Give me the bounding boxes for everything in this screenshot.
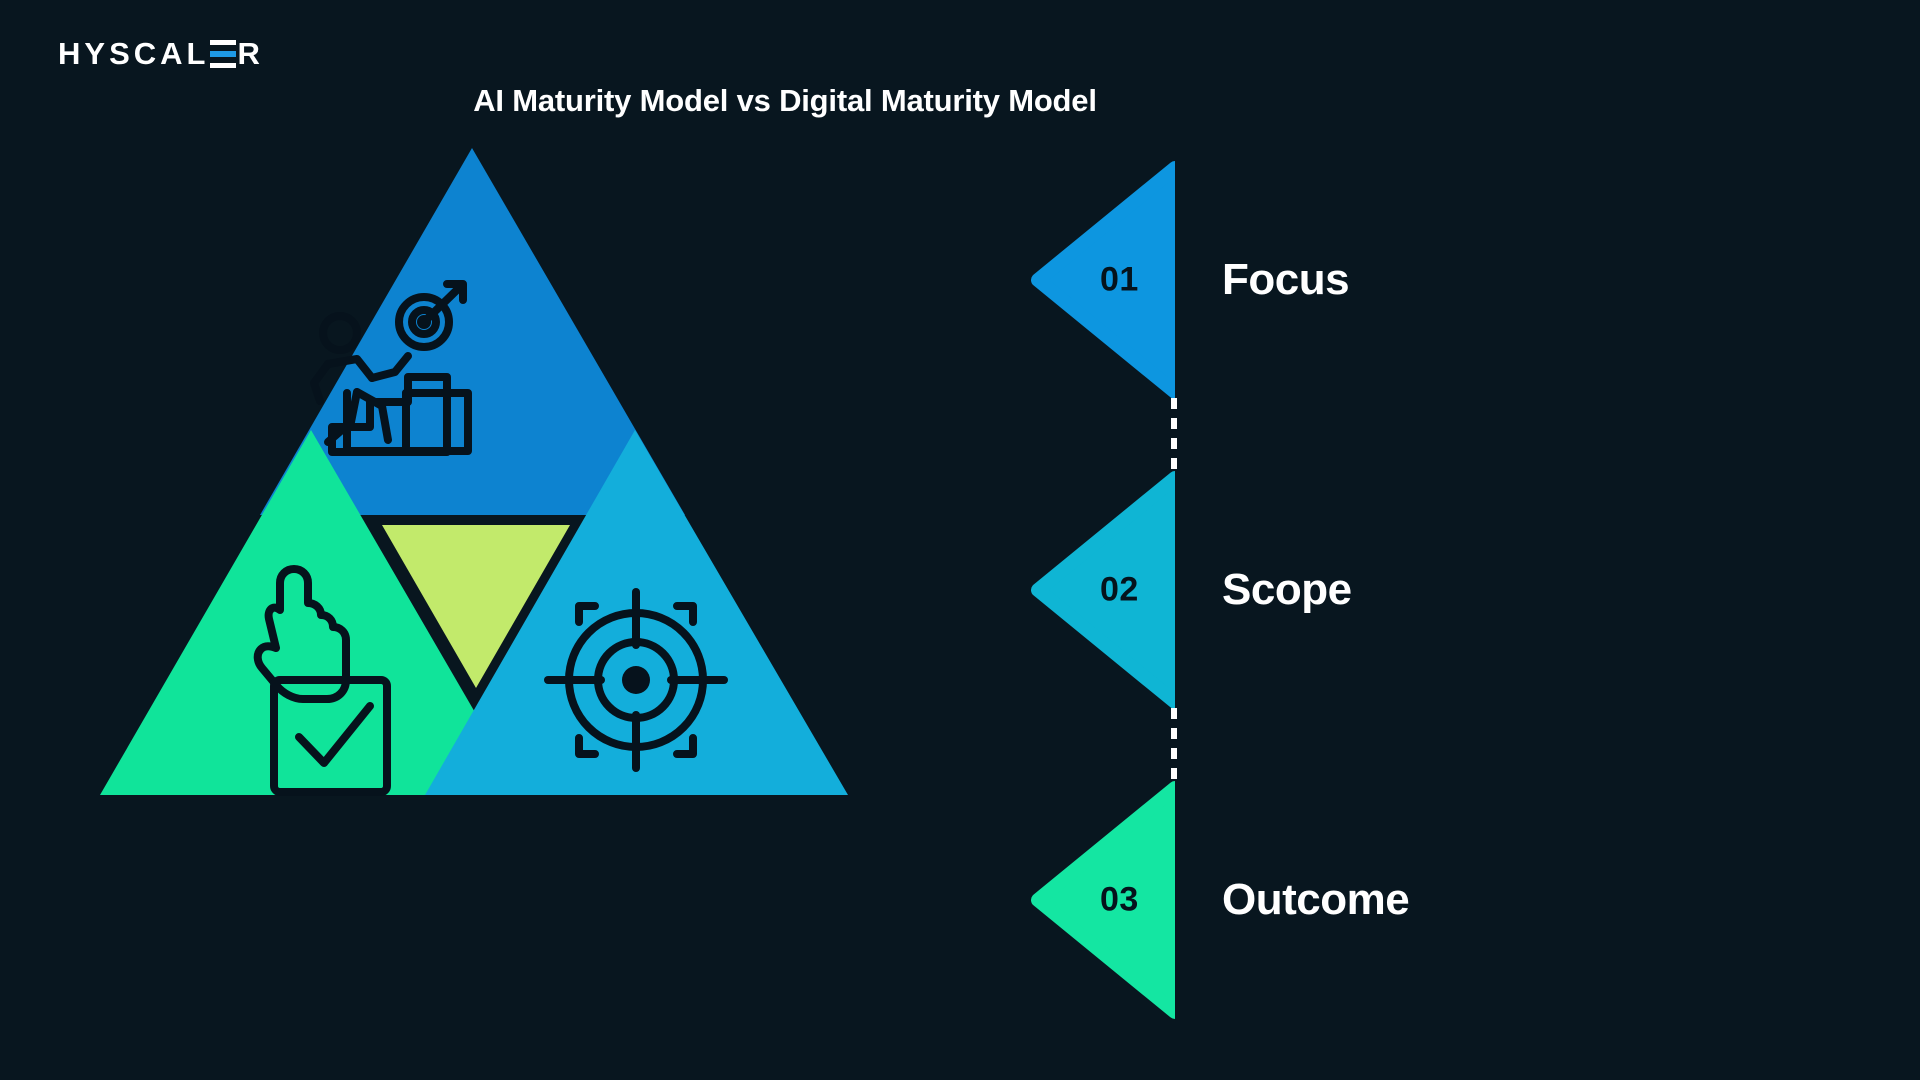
step-label-outcome: Outcome xyxy=(1222,875,1409,925)
brand-e-glyph-icon xyxy=(210,39,236,69)
brand-wordmark-part-1: HYSCAL xyxy=(58,38,209,69)
step-item-02[interactable]: 02 Scope xyxy=(1030,470,1550,710)
page-title: AI Maturity Model vs Digital Maturity Mo… xyxy=(0,83,1570,119)
step-label-focus: Focus xyxy=(1222,255,1349,305)
step-flag-03[interactable]: 03 xyxy=(1030,780,1175,1020)
step-flag-02[interactable]: 02 xyxy=(1030,470,1175,710)
step-item-03[interactable]: 03 Outcome xyxy=(1030,780,1550,1020)
step-item-01[interactable]: 01 Focus xyxy=(1030,160,1550,400)
brand-logo: HYSCAL R xyxy=(58,38,264,69)
step-number-03: 03 xyxy=(1100,881,1139,920)
brand-wordmark: HYSCAL R xyxy=(58,38,264,69)
step-number-01: 01 xyxy=(1100,261,1139,300)
brand-wordmark-part-2: R xyxy=(237,38,263,69)
step-flag-01[interactable]: 01 xyxy=(1030,160,1175,400)
pyramid-diagram xyxy=(95,140,855,800)
step-label-scope: Scope xyxy=(1222,565,1352,615)
infographic-canvas: HYSCAL R AI Maturity Model vs Digital Ma… xyxy=(0,0,1920,1080)
step-connector-1 xyxy=(1171,398,1177,470)
maturity-steps-list: 01 Focus 02 Scope 03 xyxy=(1030,160,1550,810)
step-number-02: 02 xyxy=(1100,571,1139,610)
step-connector-2 xyxy=(1171,708,1177,780)
